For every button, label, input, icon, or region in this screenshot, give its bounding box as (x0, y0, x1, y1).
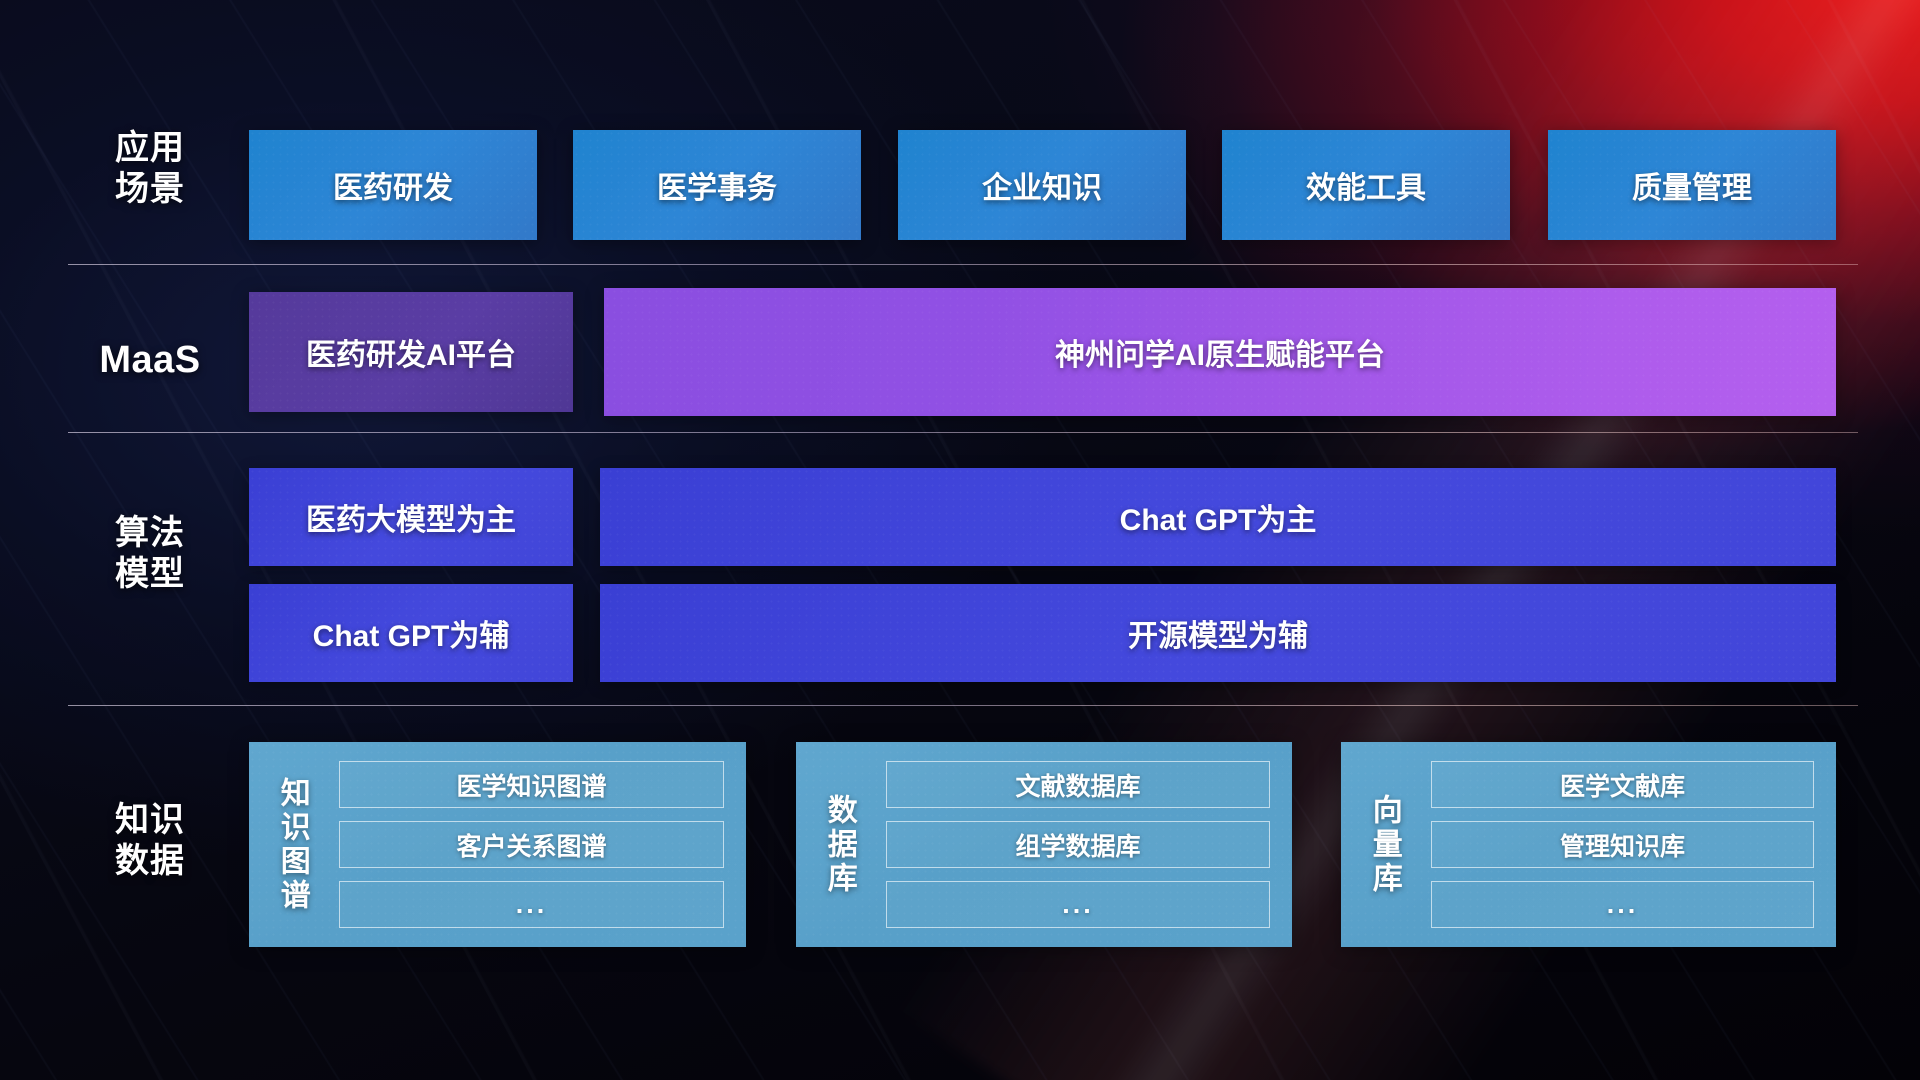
knowledge-group-label: 数据库 (796, 742, 882, 947)
knowledge-group-item-list: 文献数据库 组学数据库 ... (882, 742, 1292, 947)
maas-card-pharma-ai-platform[interactable]: 医药研发AI平台 (249, 292, 573, 412)
row-label-line-2: 场景 (55, 169, 245, 210)
knowledge-item-more[interactable]: ... (886, 881, 1270, 928)
row-label-line-2: 模型 (55, 554, 245, 595)
app-card-quality-management[interactable]: 质量管理 (1548, 130, 1836, 240)
knowledge-item[interactable]: 医学知识图谱 (339, 761, 724, 808)
app-card-label: 医药研发 (333, 163, 453, 207)
app-card-medical-affairs[interactable]: 医学事务 (573, 130, 861, 240)
algo-card-pharma-llm-primary[interactable]: 医药大模型为主 (249, 468, 573, 566)
algo-card-label: Chat GPT为主 (1120, 495, 1317, 539)
knowledge-item-label: ... (516, 889, 548, 920)
algo-card-label: Chat GPT为辅 (313, 611, 510, 655)
knowledge-item-more[interactable]: ... (339, 881, 724, 928)
knowledge-item-label: ... (1607, 889, 1639, 920)
knowledge-item[interactable]: 客户关系图谱 (339, 821, 724, 868)
row-label-line-1: 知识 (55, 800, 245, 841)
app-card-label: 企业知识 (982, 163, 1102, 207)
knowledge-item-label: 医学知识图谱 (456, 767, 606, 803)
divider-after-algorithm-models (68, 705, 1858, 706)
divider-after-application-scenarios (68, 264, 1858, 265)
knowledge-item-label: 客户关系图谱 (456, 827, 606, 863)
knowledge-item[interactable]: 医学文献库 (1431, 761, 1814, 808)
app-card-medicine-rd[interactable]: 医药研发 (249, 130, 537, 240)
row-label-application-scenarios: 应用 场景 (55, 128, 245, 211)
knowledge-item-label: ... (1062, 889, 1094, 920)
app-card-label: 效能工具 (1306, 163, 1426, 207)
knowledge-group-label: 知识图谱 (249, 742, 335, 947)
row-label-algorithm-models: 算法 模型 (55, 513, 245, 596)
app-card-label: 质量管理 (1632, 163, 1752, 207)
app-card-efficiency-tools[interactable]: 效能工具 (1222, 130, 1510, 240)
app-card-label: 医学事务 (657, 163, 777, 207)
knowledge-group-item-list: 医学知识图谱 客户关系图谱 ... (335, 742, 746, 947)
divider-after-maas (68, 432, 1858, 433)
knowledge-item-label: 组学数据库 (1015, 827, 1140, 863)
row-label-line-1: 算法 (55, 513, 245, 554)
architecture-diagram-canvas: 应用 场景 医药研发 医学事务 企业知识 效能工具 质量管理 MaaS 医药研发… (0, 0, 1920, 1080)
algo-card-chatgpt-primary[interactable]: Chat GPT为主 (600, 468, 1836, 566)
row-label-text: MaaS (55, 337, 245, 383)
maas-card-shenzhou-wenxue-platform[interactable]: 神州问学AI原生赋能平台 (604, 288, 1836, 416)
maas-card-label: 医药研发AI平台 (306, 330, 516, 374)
knowledge-item-label: 管理知识库 (1560, 827, 1685, 863)
knowledge-item[interactable]: 文献数据库 (886, 761, 1270, 808)
maas-card-label: 神州问学AI原生赋能平台 (1055, 330, 1385, 374)
knowledge-item-label: 医学文献库 (1560, 767, 1685, 803)
algo-card-chatgpt-secondary[interactable]: Chat GPT为辅 (249, 584, 573, 682)
row-label-knowledge-data: 知识 数据 (55, 800, 245, 883)
knowledge-group-label: 向量库 (1341, 742, 1427, 947)
knowledge-group-item-list: 医学文献库 管理知识库 ... (1427, 742, 1836, 947)
row-label-line-2: 数据 (55, 841, 245, 882)
knowledge-item[interactable]: 管理知识库 (1431, 821, 1814, 868)
app-card-enterprise-knowledge[interactable]: 企业知识 (898, 130, 1186, 240)
algo-card-label: 医药大模型为主 (306, 495, 516, 539)
knowledge-group-vector-store[interactable]: 向量库 医学文献库 管理知识库 ... (1341, 742, 1836, 947)
knowledge-item-more[interactable]: ... (1431, 881, 1814, 928)
row-label-maas: MaaS (55, 337, 245, 383)
knowledge-item[interactable]: 组学数据库 (886, 821, 1270, 868)
algo-card-label: 开源模型为辅 (1128, 611, 1308, 655)
knowledge-group-knowledge-graph[interactable]: 知识图谱 医学知识图谱 客户关系图谱 ... (249, 742, 746, 947)
row-label-line-1: 应用 (55, 128, 245, 169)
algo-card-opensource-secondary[interactable]: 开源模型为辅 (600, 584, 1836, 682)
knowledge-group-database[interactable]: 数据库 文献数据库 组学数据库 ... (796, 742, 1292, 947)
knowledge-item-label: 文献数据库 (1015, 767, 1140, 803)
